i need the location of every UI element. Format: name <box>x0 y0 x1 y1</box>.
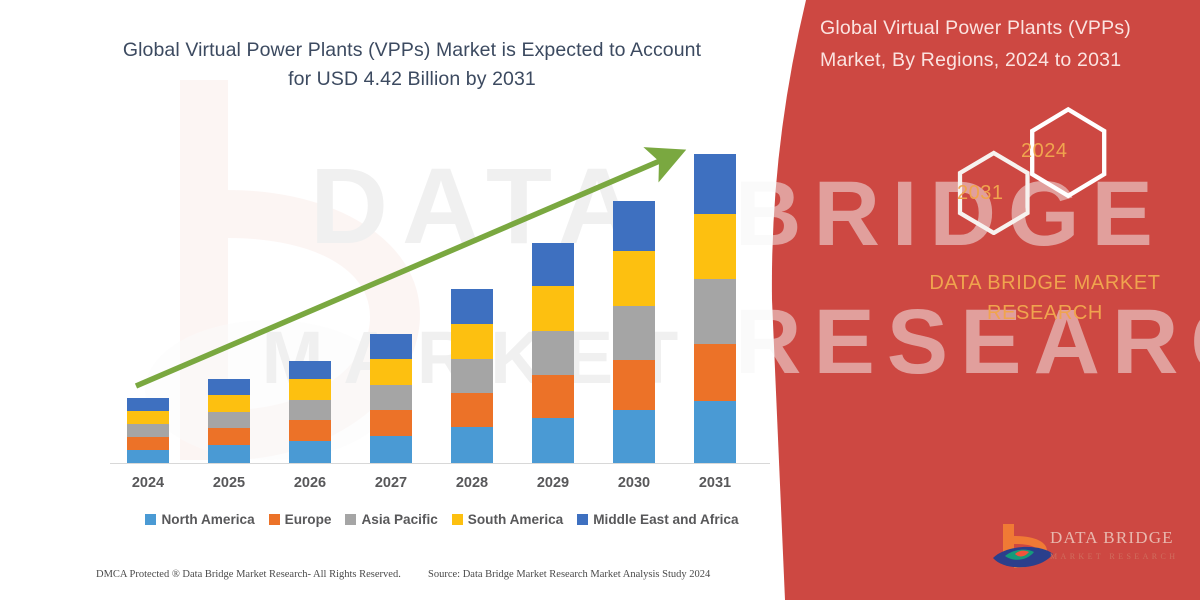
bar-segment <box>451 427 493 463</box>
stacked-bar-series <box>0 0 800 600</box>
legend-swatch-icon <box>269 514 280 525</box>
hexagon-badges <box>915 105 1130 235</box>
hexagon-year-2024: 2024 <box>1021 140 1068 163</box>
bar-segment <box>208 395 250 412</box>
bar-segment <box>694 344 736 401</box>
infographic-canvas: DATA MARKET Global Virtual Power Plants … <box>0 0 1200 600</box>
bar-segment <box>289 441 331 463</box>
legend-item[interactable]: North America <box>145 512 254 527</box>
bar-segment <box>370 436 412 463</box>
brand-name: DATA BRIDGE MARKET RESEARCH <box>900 268 1190 328</box>
bar-segment <box>289 379 331 400</box>
bar-segment <box>451 359 493 393</box>
logo-subtitle: MARKET RESEARCH <box>1050 552 1178 561</box>
brand-line-1: DATA BRIDGE MARKET <box>900 268 1190 298</box>
bar-2031[interactable] <box>694 154 736 463</box>
x-axis-label-2030: 2030 <box>599 475 669 491</box>
bar-segment <box>289 420 331 441</box>
legend-label: North America <box>161 512 254 527</box>
legend-item[interactable]: Middle East and Africa <box>577 512 738 527</box>
footer-source: Source: Data Bridge Market Research Mark… <box>428 569 710 580</box>
bar-2026[interactable] <box>289 361 331 463</box>
bar-2025[interactable] <box>208 379 250 463</box>
x-axis-label-2027: 2027 <box>356 475 426 491</box>
bar-segment <box>613 306 655 360</box>
bar-segment <box>289 400 331 420</box>
bar-segment <box>208 412 250 428</box>
bar-segment <box>127 450 169 463</box>
bar-2029[interactable] <box>532 243 574 463</box>
bar-segment <box>127 437 169 450</box>
bar-segment <box>370 359 412 385</box>
x-axis-label-2024: 2024 <box>113 475 183 491</box>
bar-segment <box>613 360 655 410</box>
bar-segment <box>127 424 169 437</box>
bar-segment <box>127 411 169 424</box>
x-axis-label-2031: 2031 <box>680 475 750 491</box>
bar-segment <box>208 445 250 463</box>
bar-segment <box>694 401 736 463</box>
bar-segment <box>694 214 736 279</box>
bar-2027[interactable] <box>370 334 412 463</box>
brand-line-2: RESEARCH <box>900 298 1190 328</box>
x-axis-label-2025: 2025 <box>194 475 264 491</box>
bar-segment <box>208 428 250 445</box>
hexagon-year-2031: 2031 <box>957 182 1004 205</box>
bar-segment <box>694 154 736 214</box>
legend-swatch-icon <box>577 514 588 525</box>
bar-segment <box>613 201 655 251</box>
bar-segment <box>694 279 736 344</box>
bar-segment <box>127 398 169 411</box>
footer-copyright: DMCA Protected ® Data Bridge Market Rese… <box>96 569 401 580</box>
bar-2030[interactable] <box>613 201 655 463</box>
legend-label: Europe <box>285 512 332 527</box>
logo-name: DATA BRIDGE <box>1050 528 1178 548</box>
bar-segment <box>451 393 493 427</box>
bar-segment <box>370 334 412 359</box>
legend-label: Middle East and Africa <box>593 512 738 527</box>
chart-legend: North AmericaEuropeAsia PacificSouth Ame… <box>112 512 772 527</box>
legend-label: Asia Pacific <box>361 512 437 527</box>
bar-segment <box>532 286 574 331</box>
bar-segment <box>370 385 412 410</box>
legend-swatch-icon <box>345 514 356 525</box>
bar-segment <box>613 410 655 463</box>
legend-item[interactable]: Asia Pacific <box>345 512 437 527</box>
x-axis-label-2029: 2029 <box>518 475 588 491</box>
bar-segment <box>451 289 493 324</box>
bar-2028[interactable] <box>451 289 493 463</box>
bar-segment <box>289 361 331 379</box>
logo-wordmark: DATA BRIDGE MARKET RESEARCH <box>1050 528 1178 561</box>
bar-2024[interactable] <box>127 398 169 463</box>
bar-segment <box>532 418 574 463</box>
bar-segment <box>451 324 493 359</box>
x-axis-label-2028: 2028 <box>437 475 507 491</box>
x-axis-labels: 20242025202620272028202920302031 <box>110 475 770 497</box>
legend-label: South America <box>468 512 563 527</box>
legend-item[interactable]: South America <box>452 512 563 527</box>
x-axis-label-2026: 2026 <box>275 475 345 491</box>
bar-segment <box>370 410 412 436</box>
bar-segment <box>208 379 250 395</box>
legend-swatch-icon <box>452 514 463 525</box>
bar-segment <box>532 243 574 286</box>
bar-segment <box>532 375 574 418</box>
legend-swatch-icon <box>145 514 156 525</box>
legend-item[interactable]: Europe <box>269 512 332 527</box>
panel-title: Global Virtual Power Plants (VPPs) Marke… <box>820 12 1180 76</box>
bar-segment <box>613 251 655 306</box>
bar-segment <box>532 331 574 375</box>
